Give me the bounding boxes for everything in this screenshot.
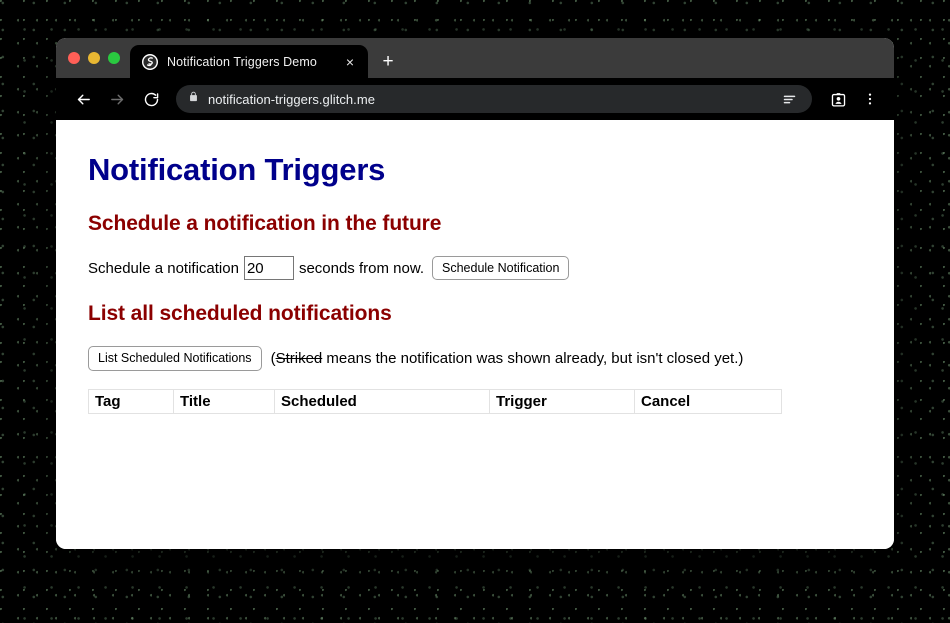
reading-list-icon[interactable] [778,88,800,110]
strike-explanation-note: (Striked means the notification was show… [271,350,744,367]
minimize-window-button[interactable] [88,52,100,64]
seconds-input[interactable] [244,256,294,280]
column-header-scheduled: Scheduled [275,389,490,413]
browser-toolbar: notification-triggers.glitch.me [56,78,894,120]
note-rest-text: means the notification was shown already… [322,350,743,367]
tab-title: Notification Triggers Demo [167,55,331,69]
list-section-heading: List all scheduled notifications [88,302,862,326]
schedule-section-heading: Schedule a notification in the future [88,212,862,236]
page-content: Notification Triggers Schedule a notific… [56,120,894,549]
close-window-button[interactable] [68,52,80,64]
column-header-cancel: Cancel [635,389,782,413]
schedule-notification-button[interactable]: Schedule Notification [432,256,569,280]
more-menu-icon[interactable] [856,85,884,113]
new-tab-button[interactable]: + [374,47,402,75]
table-header-row: Tag Title Scheduled Trigger Cancel [89,389,782,413]
address-bar[interactable]: notification-triggers.glitch.me [176,85,812,113]
schedule-label-before: Schedule a notification [88,260,239,277]
schedule-label-after: seconds from now. [299,260,424,277]
column-header-title: Title [174,389,275,413]
forward-arrow-icon [102,84,132,114]
globe-icon [142,54,158,70]
tab-notification-triggers-demo[interactable]: Notification Triggers Demo × [130,45,368,78]
table-header: Tag Title Scheduled Trigger Cancel [89,389,782,413]
back-arrow-icon[interactable] [68,84,98,114]
lock-icon [188,90,199,108]
maximize-window-button[interactable] [108,52,120,64]
tab-strip: Notification Triggers Demo × + [56,38,894,78]
tab-close-icon[interactable]: × [340,52,360,72]
column-header-tag: Tag [89,389,174,413]
scheduled-notifications-table: Tag Title Scheduled Trigger Cancel [88,389,782,414]
list-scheduled-notifications-button[interactable]: List Scheduled Notifications [88,346,262,370]
column-header-trigger: Trigger [490,389,635,413]
window-controls [64,38,130,78]
page-title: Notification Triggers [88,152,862,188]
profile-icon[interactable] [824,85,852,113]
list-controls-row: List Scheduled Notifications (Striked me… [88,346,862,370]
schedule-form-row: Schedule a notification seconds from now… [88,256,862,280]
browser-window: Notification Triggers Demo × + [56,38,894,549]
address-bar-url: notification-triggers.glitch.me [208,92,769,107]
note-struck-word: Striked [276,350,323,367]
reload-icon[interactable] [136,84,166,114]
